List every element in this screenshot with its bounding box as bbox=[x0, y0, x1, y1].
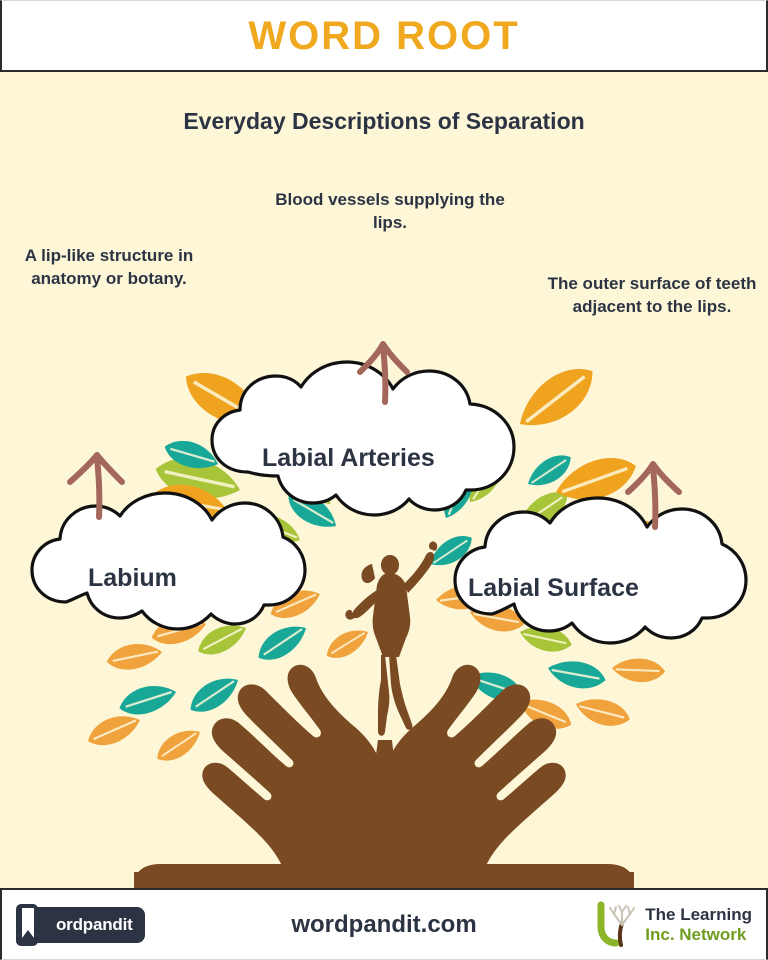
the-learning-inc-network-logo[interactable]: The Learning Inc. Network bbox=[593, 901, 752, 949]
root-banner-shape bbox=[134, 864, 634, 888]
infographic-poster: WORD ROOT Everyday Descriptions of Separ… bbox=[0, 0, 768, 960]
footer-bar: ordpandit wordpandit.com The Learning In… bbox=[0, 888, 768, 960]
header-bar: WORD ROOT bbox=[0, 0, 768, 72]
partner-text: The Learning Inc. Network bbox=[645, 905, 752, 943]
partner-line-1: The Learning bbox=[645, 905, 752, 924]
tree-icon bbox=[593, 901, 639, 949]
partner-line-2: Inc. Network bbox=[645, 925, 752, 944]
description-left: A lip-like structure in anatomy or botan… bbox=[18, 244, 200, 291]
cloud-label-labium[interactable]: Labium bbox=[88, 564, 177, 593]
description-middle: Blood vessels supplying the lips. bbox=[268, 188, 512, 235]
cloud-labium[interactable] bbox=[32, 493, 305, 629]
cloud-label-labial-surface[interactable]: Labial Surface bbox=[468, 574, 639, 603]
page-title: WORD ROOT bbox=[248, 16, 519, 56]
cloud-label-labial-arteries[interactable]: Labial Arteries bbox=[262, 444, 435, 473]
main-canvas: Everyday Descriptions of Separation bbox=[0, 72, 768, 888]
description-right: The outer surface of teeth adjacent to t… bbox=[540, 272, 764, 319]
